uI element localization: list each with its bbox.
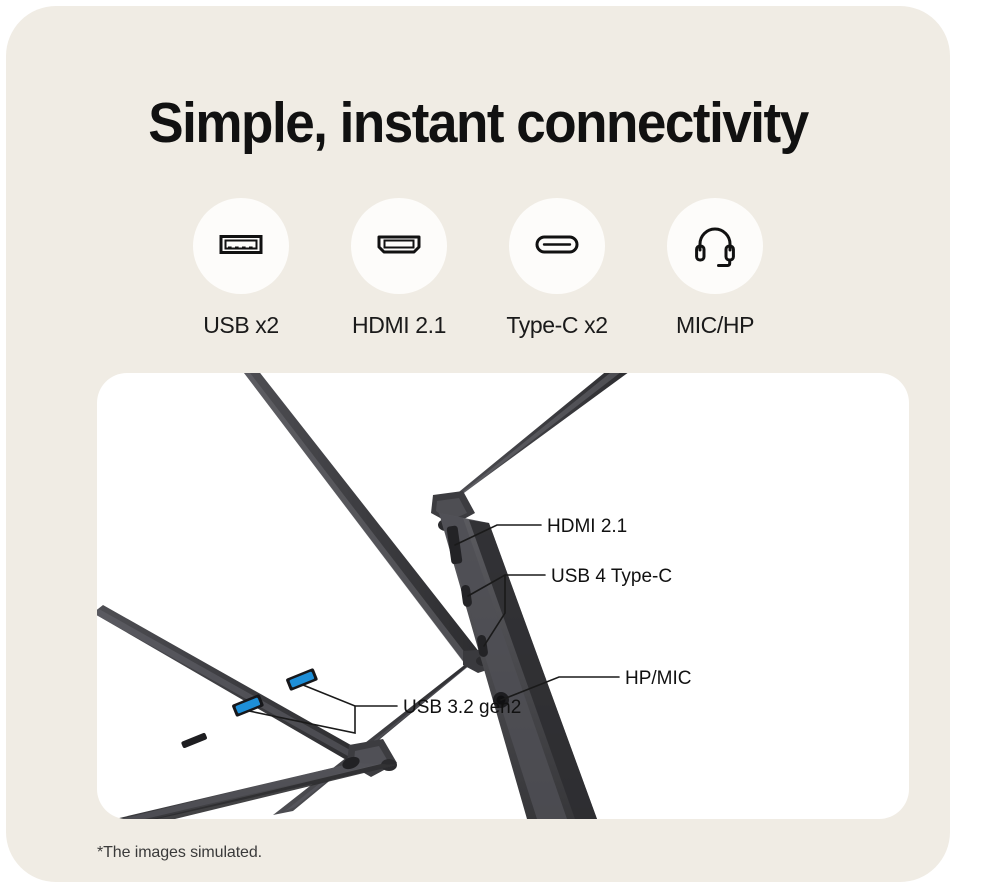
port-feature-row: USB x2 HDMI 2.1: [6, 198, 950, 339]
footnote-disclaimer: *The images simulated.: [97, 844, 262, 862]
callout-label-usb32-gen2: USB 3.2 gen2: [403, 697, 521, 718]
port-icon-circle: [667, 198, 763, 294]
port-feature-usb: USB x2: [188, 198, 294, 339]
usb-c-port-icon: [529, 216, 585, 277]
port-feature-label: USB x2: [203, 312, 279, 339]
laptop-lower-left-base: [115, 668, 397, 819]
microsd-slot: [181, 732, 208, 748]
port-feature-type-c: Type-C x2: [504, 198, 610, 339]
promo-screenshot: Simple, instant connectivity: [0, 0, 1000, 887]
port-feature-hdmi: HDMI 2.1: [346, 198, 452, 339]
usb-a-port-icon: [213, 216, 269, 277]
port-feature-label: Type-C x2: [506, 312, 607, 339]
usb-3-port-upper: [286, 668, 319, 691]
port-icon-circle: [193, 198, 289, 294]
port-feature-label: MIC/HP: [676, 312, 754, 339]
hdmi-port-icon: [371, 216, 427, 277]
callout-label-usb4-type-c: USB 4 Type-C: [551, 566, 672, 587]
port-feature-label: HDMI 2.1: [352, 312, 446, 339]
port-feature-mic-hp: MIC/HP: [662, 198, 768, 339]
callout-label-hdmi: HDMI 2.1: [547, 516, 627, 537]
promo-card: Simple, instant connectivity: [6, 6, 950, 882]
laptop-right-lid: [443, 373, 633, 505]
laptop-right-body: [439, 513, 597, 819]
laptop-lower-left-lid: [97, 605, 365, 765]
port-icon-circle: [351, 198, 447, 294]
product-image-panel: HDMI 2.1 USB 4 Type-C HP/MIC USB 3.2 gen…: [97, 373, 909, 819]
callout-label-hp-mic: HP/MIC: [625, 668, 692, 689]
headset-icon: [687, 216, 743, 277]
port-icon-circle: [509, 198, 605, 294]
page-title: Simple, instant connectivity: [39, 90, 917, 156]
product-illustration: HDMI 2.1 USB 4 Type-C HP/MIC USB 3.2 gen…: [97, 373, 909, 819]
